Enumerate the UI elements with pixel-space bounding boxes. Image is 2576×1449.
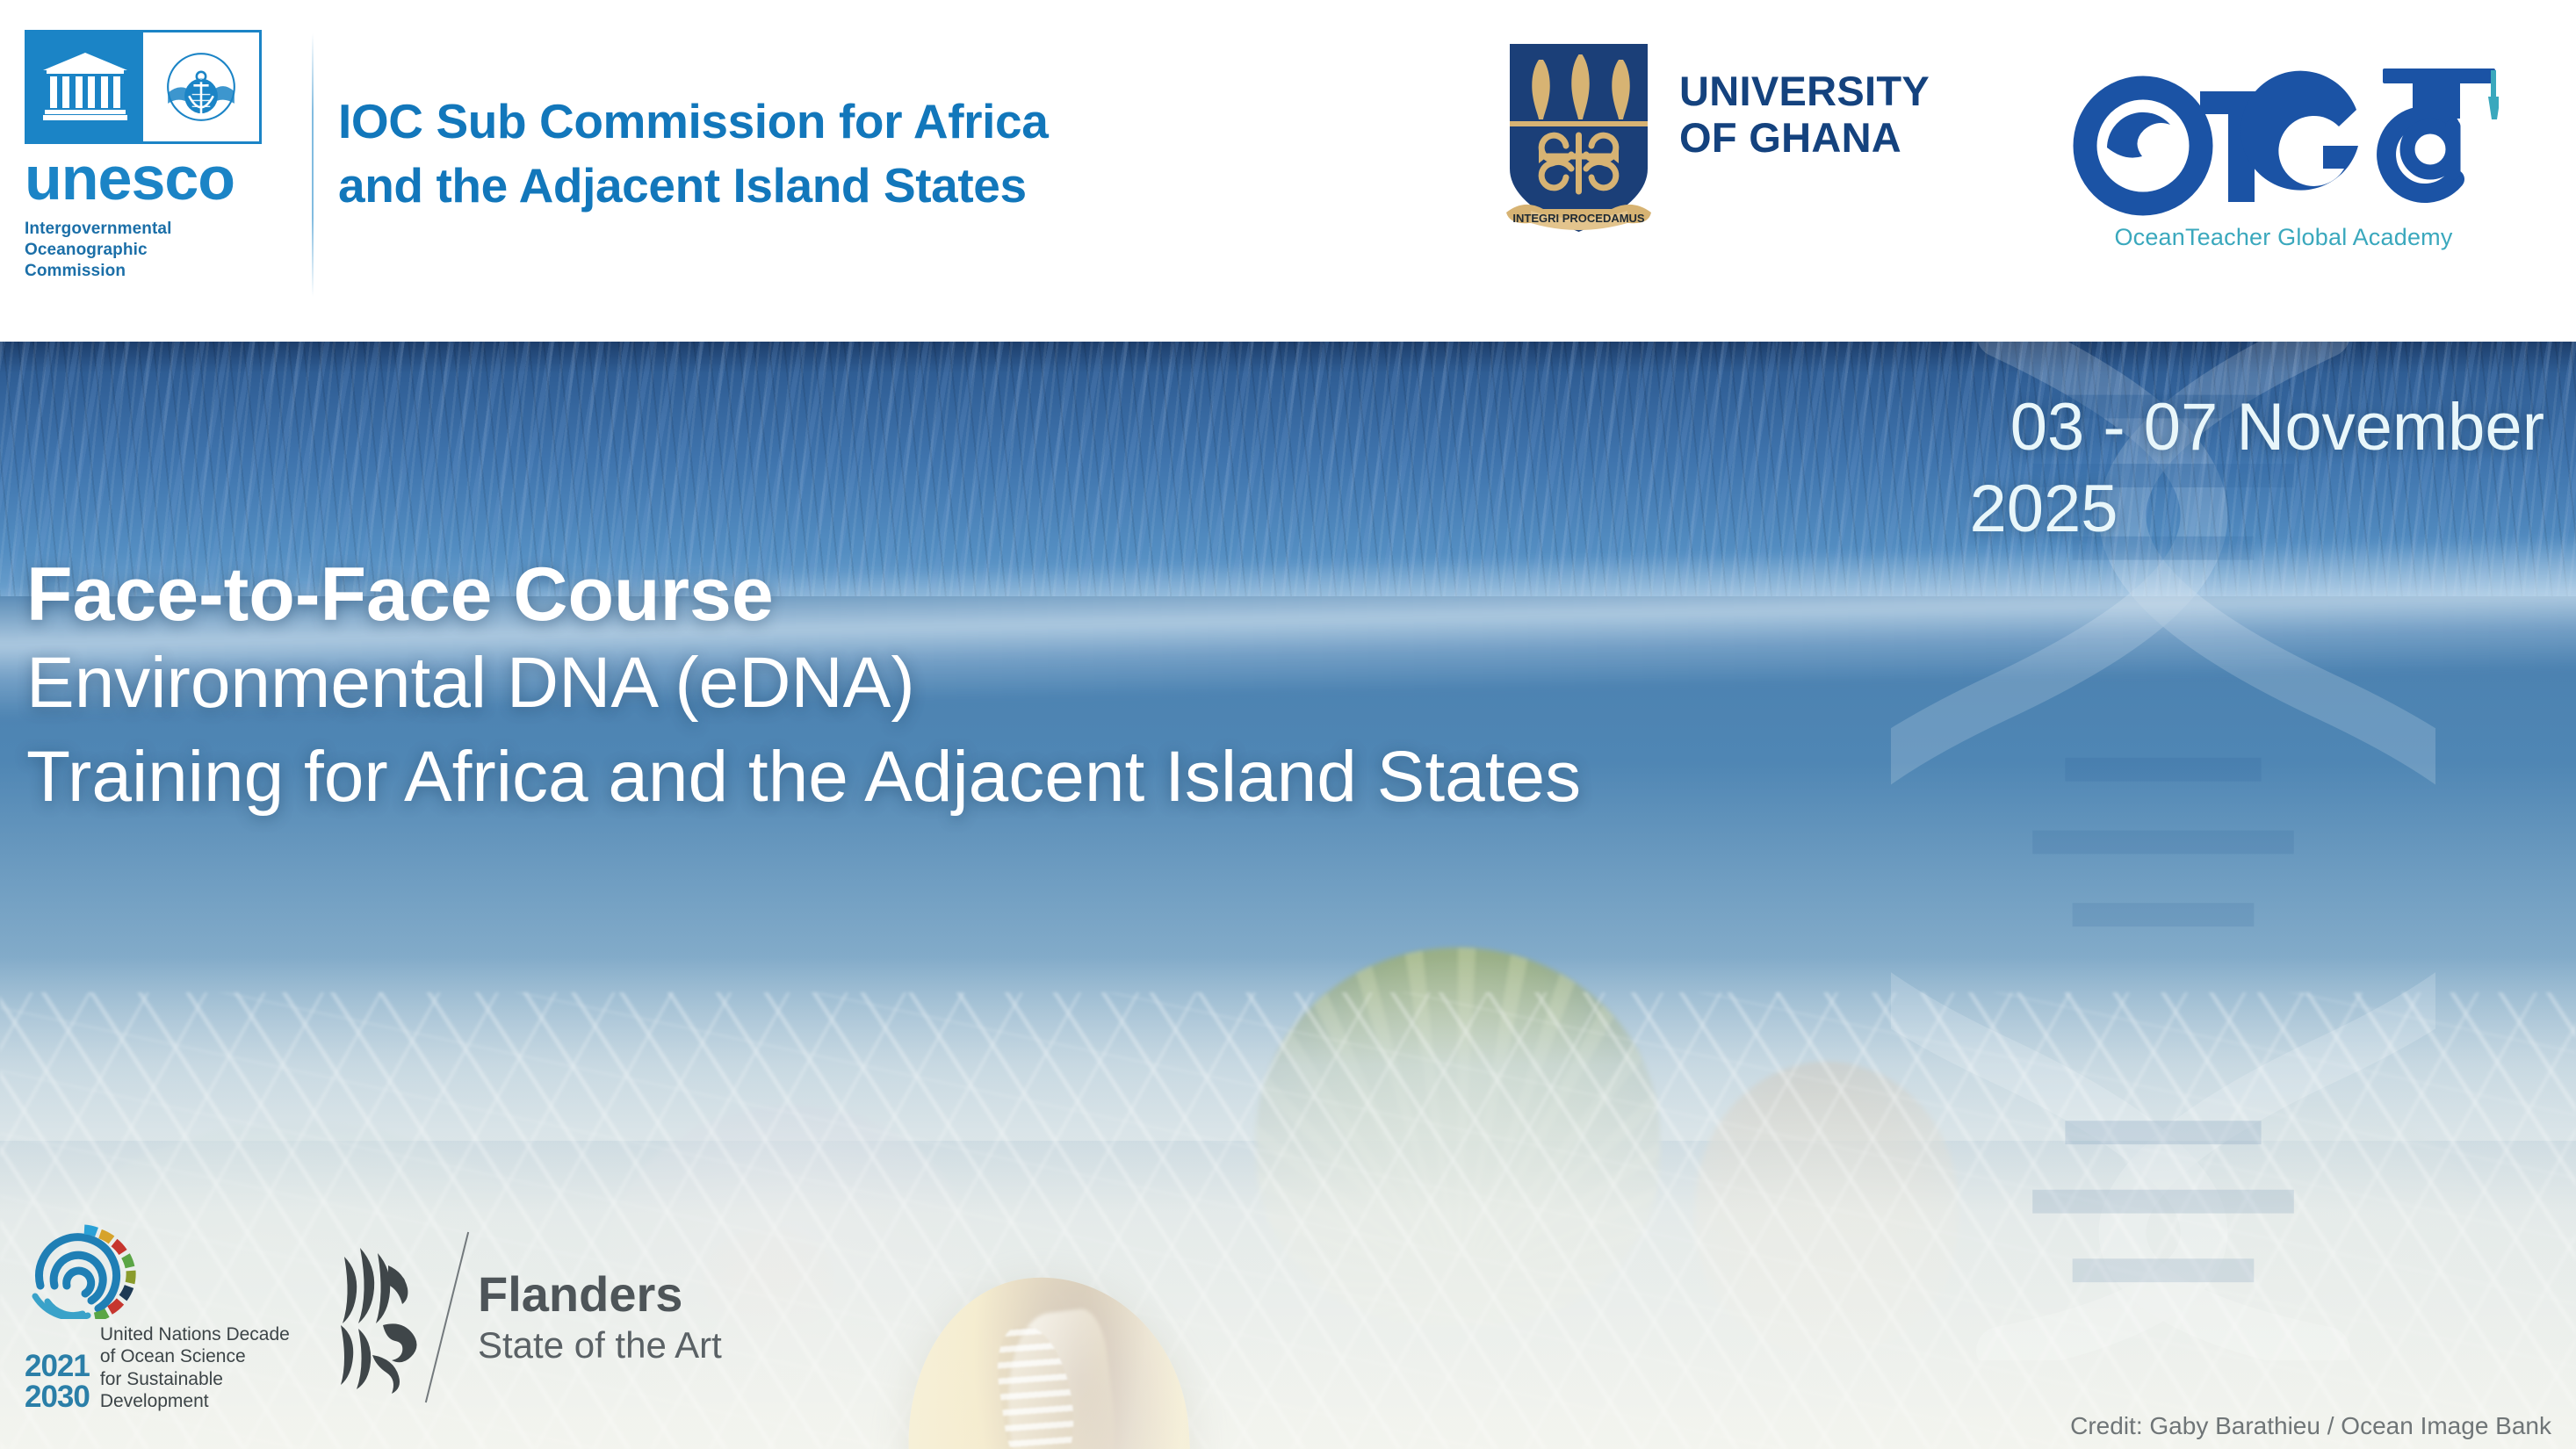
- unesco-subtitle-line-1: Intergovernmental: [25, 219, 262, 240]
- ocean-decade-wave-icon: [25, 1215, 156, 1319]
- otga-subtitle: OceanTeacher Global Academy: [2068, 224, 2499, 251]
- ioc-title-line-2: and the Adjacent Island States: [338, 154, 1164, 218]
- ocean-decade-years: 2021 2030: [25, 1352, 90, 1412]
- ioc-anchor-globe-icon: [163, 49, 239, 125]
- unesco-temple-icon: [43, 53, 127, 121]
- ocean-decade-caption: 2021 2030 United Nations Decade of Ocean…: [25, 1323, 314, 1412]
- decade-year-end: 2030: [25, 1382, 90, 1412]
- photo-credit: Credit: Gaby Barathieu / Ocean Image Ban…: [2070, 1412, 2551, 1440]
- otga-wave-graduation-cap-icon: [2068, 42, 2499, 218]
- flanders-lion-icon: [334, 1241, 430, 1395]
- university-of-ghana-crest-icon: INTEGRI PROCEDAMUS: [1497, 37, 1660, 248]
- ocean-decade-text: United Nations Decade of Ocean Science f…: [100, 1323, 314, 1412]
- course-dates-line-1: 03 - 07 November: [2010, 390, 2544, 465]
- flanders-tagline: State of the Art: [478, 1324, 722, 1366]
- header-divider: [312, 33, 314, 297]
- ioc-emblem-panel: [143, 32, 259, 141]
- flanders-divider: [425, 1232, 469, 1403]
- unesco-subtitle-line-3: Commission: [25, 261, 262, 282]
- course-title-line-3: Training for Africa and the Adjacent Isl…: [26, 731, 2450, 825]
- flanders-name: Flanders: [478, 1269, 722, 1319]
- hero-banner: 03 - 07 November 2025 Face-to-Face Cours…: [0, 342, 2576, 1449]
- unesco-subtitle: Intergovernmental Oceanographic Commissi…: [25, 219, 262, 282]
- course-dates: 03 - 07 November 2025: [1666, 387, 2544, 550]
- course-title: Face-to-Face Course Environmental DNA (e…: [26, 552, 2450, 825]
- course-dates-line-2: 2025: [1666, 469, 2544, 551]
- svg-text:unesco: unesco: [25, 150, 235, 212]
- ug-name-line-1: UNIVERSITY: [1679, 68, 1930, 115]
- flanders-text: Flanders State of the Art: [478, 1269, 722, 1366]
- otga-logo: OceanTeacher Global Academy: [2068, 42, 2499, 251]
- ioc-title-line-1: IOC Sub Commission for Africa: [338, 90, 1164, 154]
- ioc-subcommission-title: IOC Sub Commission for Africa and the Ad…: [338, 90, 1164, 217]
- decade-text-line-1: United Nations Decade: [100, 1323, 314, 1345]
- university-of-ghana-logo: INTEGRI PROCEDAMUS UNIVERSITY OF GHANA: [1497, 37, 1930, 248]
- decade-text-line-3: for Sustainable Development: [100, 1368, 314, 1412]
- flanders-logo: Flanders State of the Art: [334, 1229, 722, 1405]
- course-title-line-2: Environmental DNA (eDNA): [26, 637, 2450, 731]
- ocean-decade-logo: 2021 2030 United Nations Decade of Ocean…: [25, 1215, 314, 1412]
- university-of-ghana-name: UNIVERSITY OF GHANA: [1679, 68, 1930, 161]
- unesco-logo: unesco Intergovernmental Oceanographic C…: [25, 30, 262, 282]
- decade-text-line-2: of Ocean Science: [100, 1345, 314, 1367]
- unesco-flag-mark: [25, 30, 262, 144]
- unesco-wordmark: unesco: [25, 150, 262, 212]
- unesco-temple-panel: [27, 32, 143, 141]
- course-announcement-poster: unesco Intergovernmental Oceanographic C…: [0, 0, 2576, 1449]
- ghana-motto-text: INTEGRI PROCEDAMUS: [1512, 212, 1645, 225]
- header-bar: unesco Intergovernmental Oceanographic C…: [0, 0, 2576, 342]
- unesco-subtitle-line-2: Oceanographic: [25, 240, 262, 261]
- decade-year-start: 2021: [25, 1352, 90, 1381]
- ug-name-line-2: OF GHANA: [1679, 115, 1930, 162]
- course-title-line-1: Face-to-Face Course: [26, 552, 2450, 637]
